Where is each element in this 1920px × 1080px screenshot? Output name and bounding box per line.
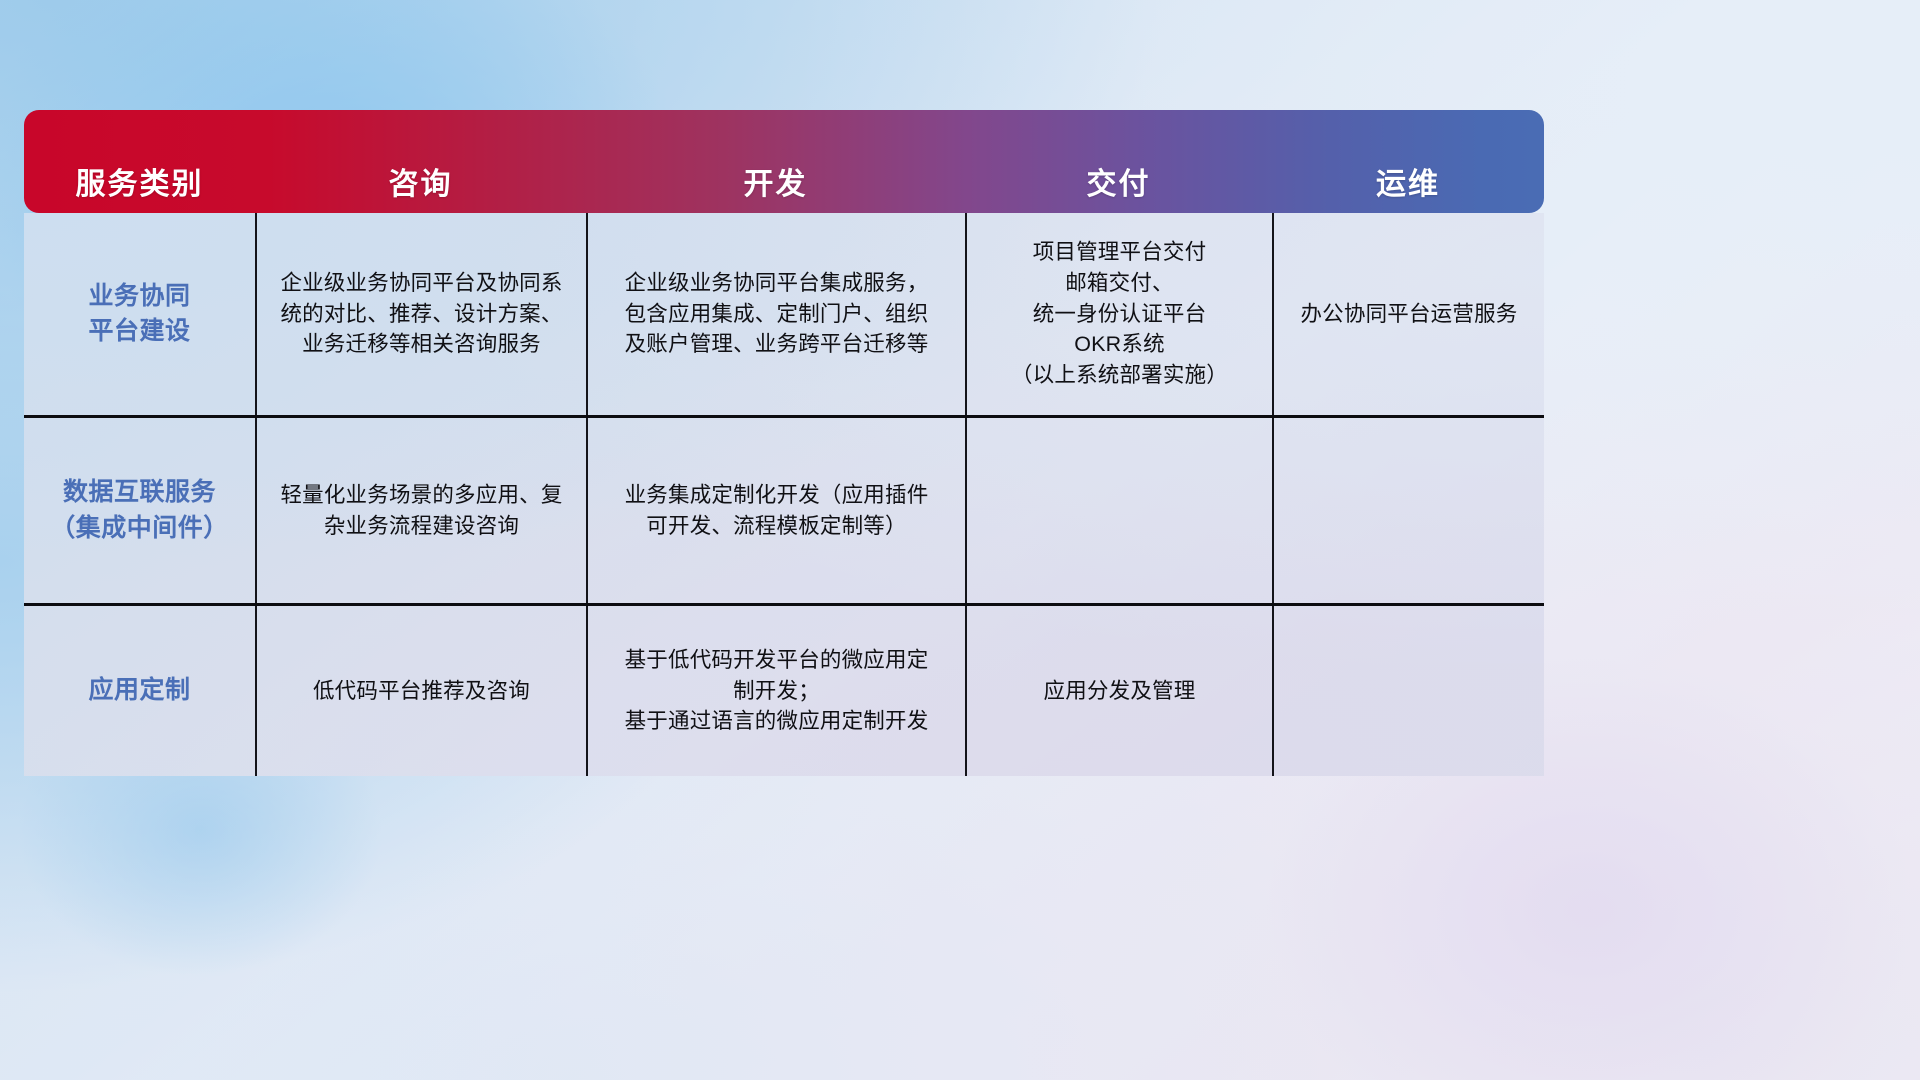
table-row: 数据互联服务（集成中间件） 轻量化业务场景的多应用、复杂业务流程建设咨询 业务集… bbox=[24, 418, 1544, 606]
cell-operations bbox=[1272, 606, 1544, 776]
cell-development: 企业级业务协同平台集成服务，包含应用集成、定制门户、组织及账户管理、业务跨平台迁… bbox=[586, 213, 965, 415]
table-row: 业务协同平台建设 企业级业务协同平台及协同系统的对比、推荐、设计方案、业务迁移等… bbox=[24, 213, 1544, 418]
cell-delivery bbox=[965, 418, 1272, 603]
row-label-cell: 应用定制 bbox=[24, 606, 255, 776]
cell-text: 基于低代码开发平台的微应用定制开发；基于通过语言的微应用定制开发 bbox=[625, 645, 929, 738]
cell-consulting: 低代码平台推荐及咨询 bbox=[255, 606, 586, 776]
cell-text: 企业级业务协同平台集成服务，包含应用集成、定制门户、组织及账户管理、业务跨平台迁… bbox=[625, 268, 929, 361]
column-header-development: 开发 bbox=[586, 110, 965, 213]
cell-delivery: 项目管理平台交付邮箱交付、统一身份认证平台OKR系统（以上系统部署实施） bbox=[965, 213, 1272, 415]
cell-development: 基于低代码开发平台的微应用定制开发；基于通过语言的微应用定制开发 bbox=[586, 606, 965, 776]
column-header-delivery: 交付 bbox=[965, 110, 1272, 213]
cell-text: 应用分发及管理 bbox=[1044, 676, 1196, 707]
column-header-category: 服务类别 bbox=[24, 110, 255, 213]
row-label-text: 业务协同平台建设 bbox=[88, 279, 190, 350]
column-header-operations: 运维 bbox=[1272, 110, 1544, 213]
row-label-cell: 数据互联服务（集成中间件） bbox=[24, 418, 255, 603]
cell-delivery: 应用分发及管理 bbox=[965, 606, 1272, 776]
cell-text: 业务集成定制化开发（应用插件可开发、流程模板定制等） bbox=[625, 480, 929, 542]
column-header-delivery-label: 交付 bbox=[1087, 170, 1151, 200]
column-header-development-label: 开发 bbox=[744, 170, 808, 200]
cell-text: 项目管理平台交付邮箱交付、统一身份认证平台OKR系统（以上系统部署实施） bbox=[1011, 237, 1228, 392]
column-header-category-label: 服务类别 bbox=[76, 170, 204, 200]
column-header-consulting: 咨询 bbox=[255, 110, 586, 213]
cell-consulting: 轻量化业务场景的多应用、复杂业务流程建设咨询 bbox=[255, 418, 586, 603]
table-body: 业务协同平台建设 企业级业务协同平台及协同系统的对比、推荐、设计方案、业务迁移等… bbox=[24, 213, 1544, 776]
cell-text: 办公协同平台运营服务 bbox=[1300, 299, 1517, 330]
row-label-cell: 业务协同平台建设 bbox=[24, 213, 255, 415]
table-row: 应用定制 低代码平台推荐及咨询 基于低代码开发平台的微应用定制开发；基于通过语言… bbox=[24, 606, 1544, 776]
cell-development: 业务集成定制化开发（应用插件可开发、流程模板定制等） bbox=[586, 418, 965, 603]
cell-operations: 办公协同平台运营服务 bbox=[1272, 213, 1544, 415]
cell-consulting: 企业级业务协同平台及协同系统的对比、推荐、设计方案、业务迁移等相关咨询服务 bbox=[255, 213, 586, 415]
row-label-text: 应用定制 bbox=[88, 673, 190, 709]
cell-text: 企业级业务协同平台及协同系统的对比、推荐、设计方案、业务迁移等相关咨询服务 bbox=[280, 268, 562, 361]
row-label-text: 数据互联服务（集成中间件） bbox=[50, 475, 229, 546]
cell-operations bbox=[1272, 418, 1544, 603]
cell-text: 低代码平台推荐及咨询 bbox=[313, 676, 530, 707]
table-header-row: 服务类别 咨询 开发 交付 运维 bbox=[24, 110, 1544, 213]
service-matrix-table: 服务类别 咨询 开发 交付 运维 业务协同平台建设 企业级业务协同平台及协同系统… bbox=[24, 110, 1544, 776]
cell-text: 轻量化业务场景的多应用、复杂业务流程建设咨询 bbox=[280, 480, 562, 542]
column-header-operations-label: 运维 bbox=[1376, 170, 1440, 200]
column-header-consulting-label: 咨询 bbox=[389, 170, 453, 200]
